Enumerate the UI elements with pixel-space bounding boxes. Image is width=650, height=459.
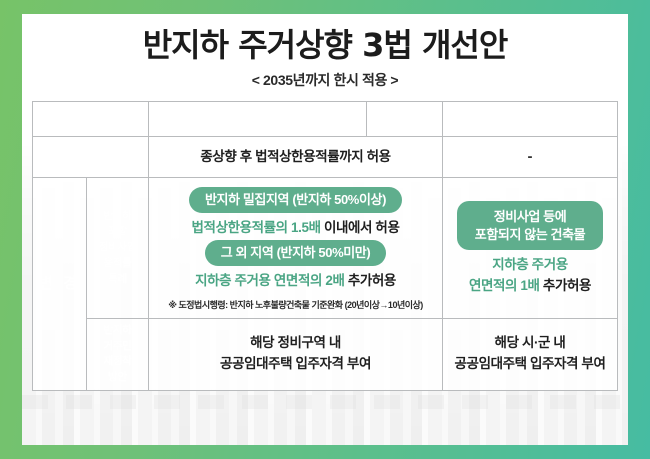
line-building-act-allowance: 지하층 주거용 연면적의 1배 추가허용 xyxy=(449,255,611,297)
line-dense-area: 법적상한용적률의 1.5배 이내에서 허용 xyxy=(155,218,436,238)
table-row-change-floor-area: 변 경 반지하 포함 정비사업 용적률 특례 반지하 밀집지역 (반지하 50%… xyxy=(33,178,618,319)
line-resettlement-left-1: 해당 정비구역 내 xyxy=(250,335,341,350)
row-label-floor-area-l5: 특례 xyxy=(108,273,127,285)
row-label-resettlement-l4: 방안 xyxy=(108,371,127,383)
row-label-resettlement-l1: 반지하 xyxy=(103,324,131,336)
cell-resettlement-small-housing: 해당 정비구역 내 공공임대주택 입주자격 부여 xyxy=(149,318,443,390)
line-other-area: 지하층 주거용 연면적의 2배 추가허용 xyxy=(155,271,436,291)
column-header-urban-renewal-act: 도시정비법 xyxy=(367,101,443,136)
row-label-change-group: 변 경 xyxy=(33,178,87,391)
column-header-category: 구 분 xyxy=(33,101,149,136)
row-label-resettlement-l2: 거주민 xyxy=(103,340,131,352)
badge-not-included-l1: 정비사업 등에 xyxy=(494,209,567,224)
line-resettlement-right-1: 해당 시·군 내 xyxy=(495,335,566,350)
row-label-resettlement: 반지하 거주민 재정착 방안 xyxy=(87,318,149,390)
badge-dense-area: 반지하 밀집지역 (반지하 50%이상) xyxy=(189,187,402,213)
row-label-floor-area-l4: 용적률 xyxy=(103,257,131,269)
table-row-current: 현 행 정비사업 용적률 특례 종상향 후 법적상한용적률까지 허용 - xyxy=(33,136,618,178)
line-other-area-green: 지하층 주거용 연면적의 2배 xyxy=(195,273,344,288)
row-label-current-main: 현 행 xyxy=(78,142,104,156)
poster-header: 반지하 주거상향 3법 개선안 < 2035년까지 한시 적용 > xyxy=(22,14,628,90)
comparison-table-wrapper: 구 분 소규모주택정비법 도시정비법 건 축 법 현 행 정비사업 용적률 특례… xyxy=(32,101,618,391)
cell-current-merged: 종상향 후 법적상한용적률까지 허용 xyxy=(149,136,443,178)
cell-change-small-housing: 반지하 밀집지역 (반지하 50%이상) 법적상한용적률의 1.5배 이내에서 … xyxy=(149,178,443,319)
row-label-floor-area-special: 반지하 포함 정비사업 용적률 특례 xyxy=(87,178,149,319)
cell-current-building-act: - xyxy=(443,136,618,178)
line-dense-area-dark: 이내에서 허용 xyxy=(324,220,399,235)
comparison-table: 구 분 소규모주택정비법 도시정비법 건 축 법 현 행 정비사업 용적률 특례… xyxy=(32,101,618,391)
column-header-building-act: 건 축 법 xyxy=(443,101,618,136)
line-building-act-green-1: 지하층 주거용 xyxy=(492,257,567,272)
line-building-act-dark: 추가허용 xyxy=(543,278,591,293)
footnote-urban-renewal-decree: ※ 도정법시행령: 반지하 노후불량건축물 기준완화 (20년이상→10년이상) xyxy=(155,298,436,311)
cell-change-building-act: 정비사업 등에 포함되지 않는 건축물 지하층 주거용 연면적의 1배 추가허용 xyxy=(443,178,618,319)
row-label-current-sub: 정비사업 용적률 특례 xyxy=(35,160,146,173)
badge-other-area: 그 외 지역 (반지하 50%미만) xyxy=(205,240,387,266)
line-resettlement-left-2: 공공임대주택 입주자격 부여 xyxy=(220,356,371,371)
line-resettlement-right: 해당 시·군 내 공공임대주택 입주자격 부여 xyxy=(449,333,611,375)
row-label-floor-area-l1: 반지하 xyxy=(103,210,131,222)
page-subtitle: < 2035년까지 한시 적용 > xyxy=(22,70,628,90)
badge-not-included-l2: 포함되지 않는 건축물 xyxy=(475,227,585,242)
page-title: 반지하 주거상향 3법 개선안 xyxy=(22,28,628,63)
line-resettlement-left: 해당 정비구역 내 공공임대주택 입주자격 부여 xyxy=(155,333,436,375)
cell-resettlement-building-act: 해당 시·군 내 공공임대주택 입주자격 부여 xyxy=(443,318,618,390)
content-card: 반지하 주거상향 3법 개선안 < 2035년까지 한시 적용 > 구 분 소규… xyxy=(22,14,628,445)
infographic-poster: 반지하 주거상향 3법 개선안 < 2035년까지 한시 적용 > 구 분 소규… xyxy=(0,0,650,459)
line-dense-area-green: 법적상한용적률의 1.5배 xyxy=(192,220,321,235)
cell-current-building-act-text: - xyxy=(449,148,611,165)
cell-current-merged-text: 종상향 후 법적상한용적률까지 허용 xyxy=(155,147,436,167)
column-header-small-housing-act: 소규모주택정비법 xyxy=(149,101,367,136)
table-header-row: 구 분 소규모주택정비법 도시정비법 건 축 법 xyxy=(33,101,618,136)
line-resettlement-right-2: 공공임대주택 입주자격 부여 xyxy=(455,356,606,371)
line-other-area-dark: 추가허용 xyxy=(348,273,396,288)
line-building-act-green-2: 연면적의 1배 xyxy=(469,278,540,293)
row-label-resettlement-l3: 재정착 xyxy=(103,355,131,367)
row-label-floor-area-l3: 정비사업 xyxy=(99,241,136,253)
row-label-current: 현 행 정비사업 용적률 특례 xyxy=(33,136,149,178)
row-label-floor-area-l2: 포함 xyxy=(108,225,127,237)
badge-not-included-building: 정비사업 등에 포함되지 않는 건축물 xyxy=(457,201,603,250)
table-row-resettlement: 반지하 거주민 재정착 방안 해당 정비구역 내 공공임대주택 입주자격 부여 xyxy=(33,318,618,390)
